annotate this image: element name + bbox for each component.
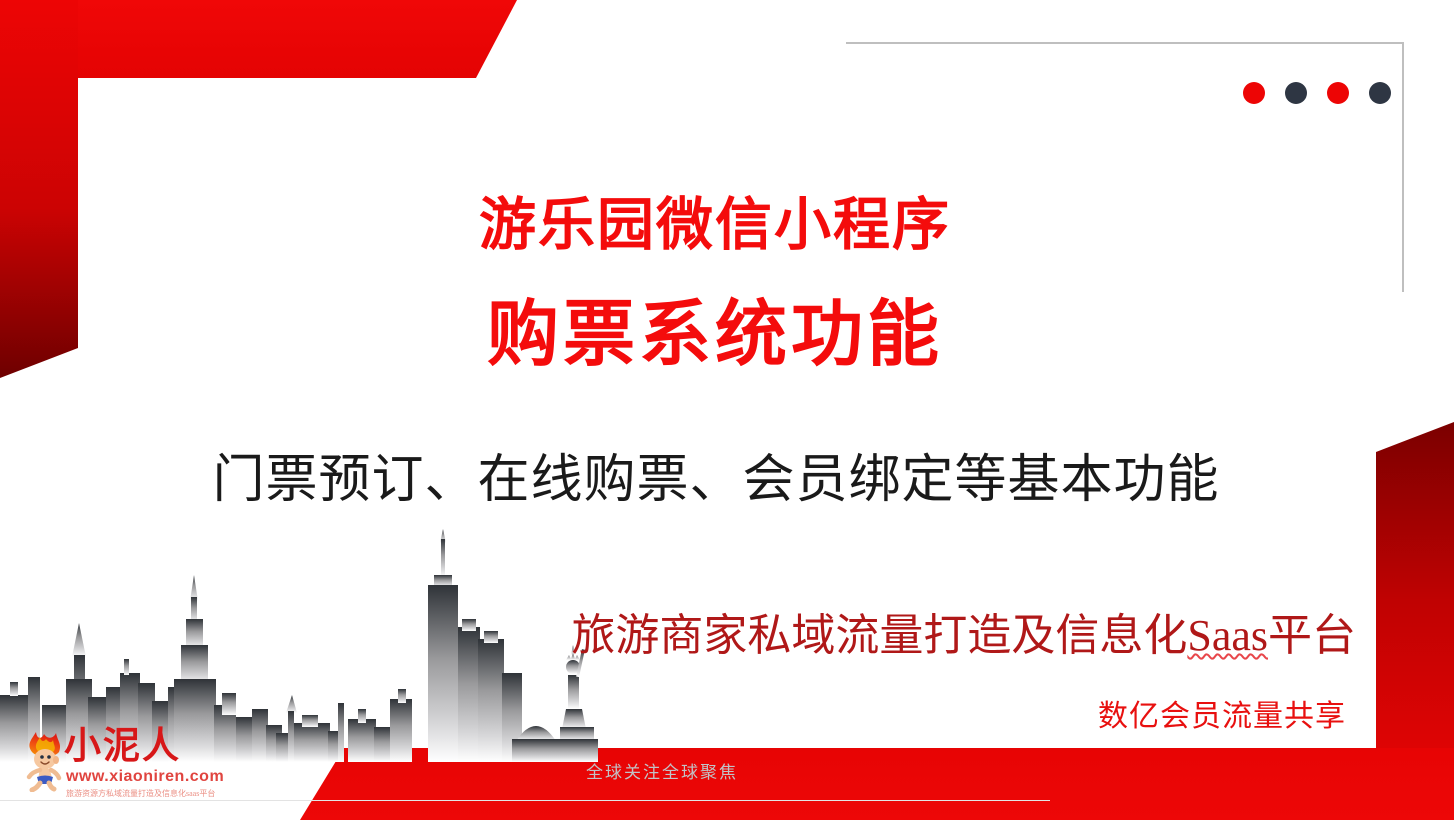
corner-decorations — [0, 0, 1454, 820]
tagline-prefix: 旅游商家私域流量打造及信息化 — [571, 611, 1187, 660]
dot-dark-1 — [1285, 82, 1307, 104]
tagline-suffix: 平台 — [1268, 611, 1356, 660]
brand-logo[interactable]: 小泥人 www.xiaoniren.com 旅游资源方私域流量打造及信息化saa… — [18, 728, 208, 806]
slide-canvas: 游乐园微信小程序 购票系统功能 门票预订、在线购票、会员绑定等基本功能 旅游商家… — [0, 0, 1454, 820]
brand-subtagline: 数亿会员流量共享 — [0, 700, 1454, 733]
decorative-dot-row — [1243, 82, 1391, 104]
flame-boy-mascot-icon — [18, 730, 68, 792]
dot-red-1 — [1243, 82, 1265, 104]
brand-tagline: 旅游商家私域流量打造及信息化Saas平台 — [0, 612, 1454, 660]
top-band-red — [0, 0, 517, 78]
dot-dark-2 — [1369, 82, 1391, 104]
frame-line-horizontal — [846, 42, 1404, 44]
logo-subtitle: 旅游资源方私域流量打造及信息化saas平台 — [66, 788, 215, 799]
page-title-line-2: 购票系统功能 — [0, 296, 1454, 375]
tagline-spellchecked-word: Saas — [1187, 611, 1268, 660]
logo-brand-name: 小泥人 — [64, 728, 181, 765]
page-subtitle: 门票预订、在线购票、会员绑定等基本功能 — [0, 452, 1454, 509]
logo-website-url[interactable]: www.xiaoniren.com — [66, 768, 224, 786]
dot-red-2 — [1327, 82, 1349, 104]
page-title-line-1: 游乐园微信小程序 — [0, 196, 1454, 256]
